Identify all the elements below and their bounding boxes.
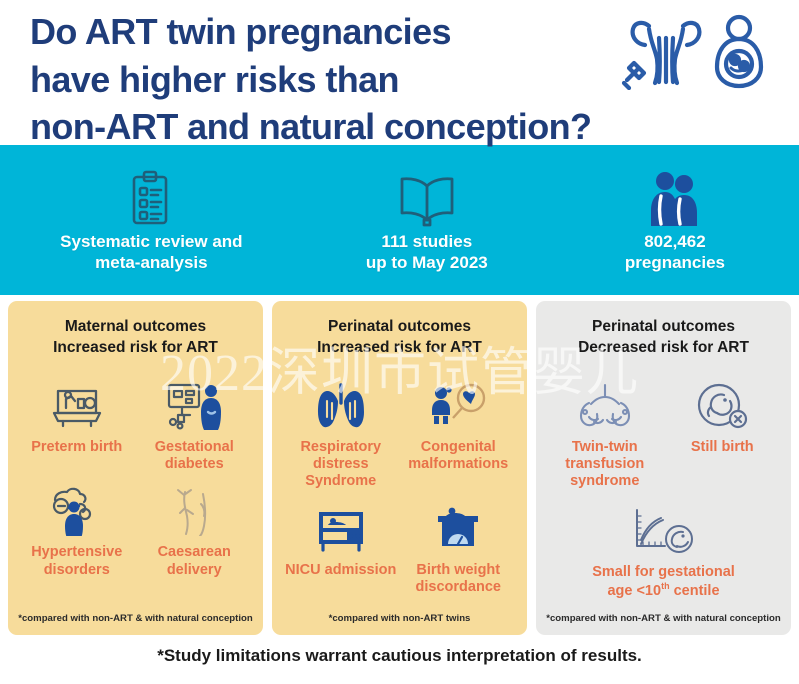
stat-label: Systematic review and meta-analysis <box>60 232 242 273</box>
outcome-label: Hypertensive disorders <box>31 544 122 578</box>
stat-label: 802,462 pregnancies <box>625 232 725 273</box>
caesarean-scar-icon <box>171 483 217 539</box>
stat-item-studies: 111 studies up to May 2023 <box>303 166 551 273</box>
outcome-item-caesarean-delivery: Caesarean delivery <box>136 483 254 578</box>
outcome-grid: Twin-twin transfusion syndrome Still bir… <box>546 364 781 613</box>
outcome-item-still-birth: Still birth <box>664 378 782 490</box>
outcome-label: NICU admission <box>285 562 396 579</box>
outcome-label: Congenital malformations <box>408 439 508 473</box>
panel-perinatal-increased: Perinatal outcomes Increased risk for AR… <box>272 301 527 635</box>
panel-title: Perinatal outcomes Increased risk for AR… <box>282 317 517 358</box>
header: Do ART twin pregnancies have higher risk… <box>0 0 799 145</box>
uterus-syringe-icon <box>621 14 703 95</box>
outcome-item-hypertensive-disorders: Hypertensive disorders <box>18 483 136 578</box>
two-pregnant-people-icon <box>647 166 703 228</box>
pregnant-twins-icon <box>711 14 767 95</box>
outcome-item-gestational-diabetes: Gestational diabetes <box>136 378 254 473</box>
stat-item-pregnancies: 802,462 pregnancies <box>551 166 799 273</box>
header-icon-group <box>621 6 781 95</box>
panel-title: Maternal outcomes Increased risk for ART <box>18 317 253 358</box>
outcome-item-nicu-admission: NICU admission <box>282 501 400 596</box>
outcome-label: Caesarean delivery <box>158 544 231 578</box>
panel-footnote: *compared with non-ART & with natural co… <box>546 613 781 629</box>
clipboard-checklist-icon <box>127 166 175 228</box>
lungs-icon <box>312 378 370 434</box>
stats-band: Systematic review and meta-analysis 111 … <box>0 145 799 295</box>
outcome-label: Twin-twin transfusion syndrome <box>565 439 644 490</box>
outcome-item-congenital-malformations: Congenital malformations <box>400 378 518 490</box>
outcome-item-small-for-gestational-age: Small for gestationalage <10th centile <box>546 503 781 600</box>
outcome-label: Gestational diabetes <box>155 439 234 473</box>
blood-pressure-icon <box>47 483 107 539</box>
panel-footnote: *compared with non-ART & with natural co… <box>18 613 253 629</box>
outcome-item-twin-twin-transfusion: Twin-twin transfusion syndrome <box>546 378 664 490</box>
baby-magnifier-heart-icon <box>427 378 489 434</box>
outcome-grid: Respiratory distress Syndrome <box>282 364 517 613</box>
panel-footnote: *compared with non-ART twins <box>282 613 517 629</box>
panel-title: Perinatal outcomes Decreased risk for AR… <box>546 317 781 358</box>
open-book-icon <box>397 166 457 228</box>
outcome-label: Birth weight discordance <box>416 562 501 596</box>
panel-perinatal-decreased: Perinatal outcomes Decreased risk for AR… <box>536 301 791 635</box>
outcome-label: Preterm birth <box>31 439 122 456</box>
outcome-item-preterm-birth: Preterm birth <box>18 378 136 473</box>
footer-disclaimer: *Study limitations warrant cautious inte… <box>0 635 799 677</box>
panel-maternal-increased: Maternal outcomes Increased risk for ART… <box>8 301 263 635</box>
outcome-label: Respiratory distress Syndrome <box>284 439 398 490</box>
page-title: Do ART twin pregnancies have higher risk… <box>30 6 591 151</box>
stat-label: 111 studies up to May 2023 <box>366 232 488 273</box>
nicu-incubator-icon <box>313 501 369 557</box>
baby-scale-icon <box>432 501 484 557</box>
glucose-monitor-icon <box>164 378 224 434</box>
twin-fetuses-icon <box>572 378 638 434</box>
outcome-item-birth-weight-discordance: Birth weight discordance <box>400 501 518 596</box>
outcome-item-respiratory-distress: Respiratory distress Syndrome <box>282 378 400 490</box>
outcome-panels: Maternal outcomes Increased risk for ART… <box>0 295 799 635</box>
incubator-line-icon <box>49 378 105 434</box>
growth-chart-fetus-icon <box>627 503 701 559</box>
outcome-grid: Preterm birth <box>18 364 253 613</box>
outcome-label: Small for gestationalage <10th centile <box>592 564 735 600</box>
stat-item-systematic-review: Systematic review and meta-analysis <box>0 166 303 273</box>
outcome-label: Still birth <box>691 439 754 456</box>
fetus-cross-icon <box>694 378 750 434</box>
